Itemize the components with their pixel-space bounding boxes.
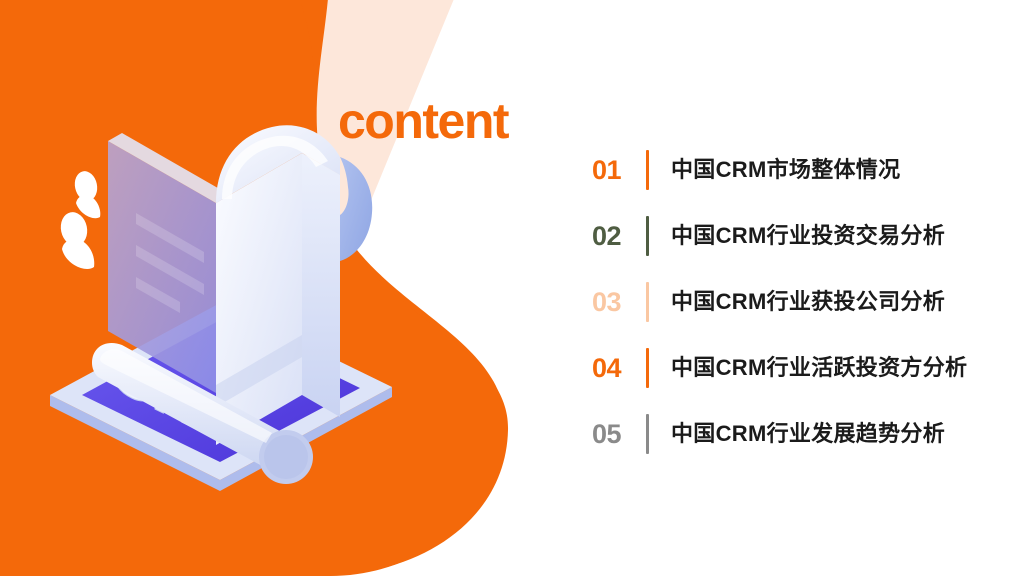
agenda-label-05: 中国CRM行业发展趋势分析 xyxy=(671,423,945,445)
slide-canvas: CRM xyxy=(0,0,1024,576)
agenda-divider-04 xyxy=(646,348,649,388)
agenda-divider-05 xyxy=(646,414,649,454)
agenda-label-03: 中国CRM行业获投公司分析 xyxy=(671,291,945,313)
agenda-number-01: 01 xyxy=(592,157,638,184)
agenda-item-02[interactable]: 02 中国CRM行业投资交易分析 xyxy=(592,214,992,258)
agenda-label-04: 中国CRM行业活跃投资方分析 xyxy=(671,357,967,379)
agenda-item-05[interactable]: 05 中国CRM行业发展趋势分析 xyxy=(592,412,992,456)
agenda-divider-01 xyxy=(646,150,649,190)
agenda-item-01[interactable]: 01 中国CRM市场整体情况 xyxy=(592,148,992,192)
agenda-number-02: 02 xyxy=(592,223,638,250)
crm-illustration: CRM xyxy=(40,95,440,505)
agenda-item-03[interactable]: 03 中国CRM行业获投公司分析 xyxy=(592,280,992,324)
agenda-divider-02 xyxy=(646,216,649,256)
agenda-label-02: 中国CRM行业投资交易分析 xyxy=(671,225,945,247)
scroll-side-face xyxy=(302,153,340,417)
agenda-item-04[interactable]: 04 中国CRM行业活跃投资方分析 xyxy=(592,346,992,390)
scroll-curl-underside xyxy=(340,157,372,261)
agenda-list: 01 中国CRM市场整体情况 02 中国CRM行业投资交易分析 03 中国CRM… xyxy=(592,148,992,456)
agenda-number-05: 05 xyxy=(592,421,638,448)
agenda-number-04: 04 xyxy=(592,355,638,382)
two-people-icon xyxy=(58,169,101,269)
page-title: content xyxy=(338,96,508,146)
agenda-label-01: 中国CRM市场整体情况 xyxy=(671,159,900,181)
agenda-number-03: 03 xyxy=(592,289,638,316)
agenda-divider-03 xyxy=(646,282,649,322)
roll-end-cap-inner xyxy=(264,435,308,479)
